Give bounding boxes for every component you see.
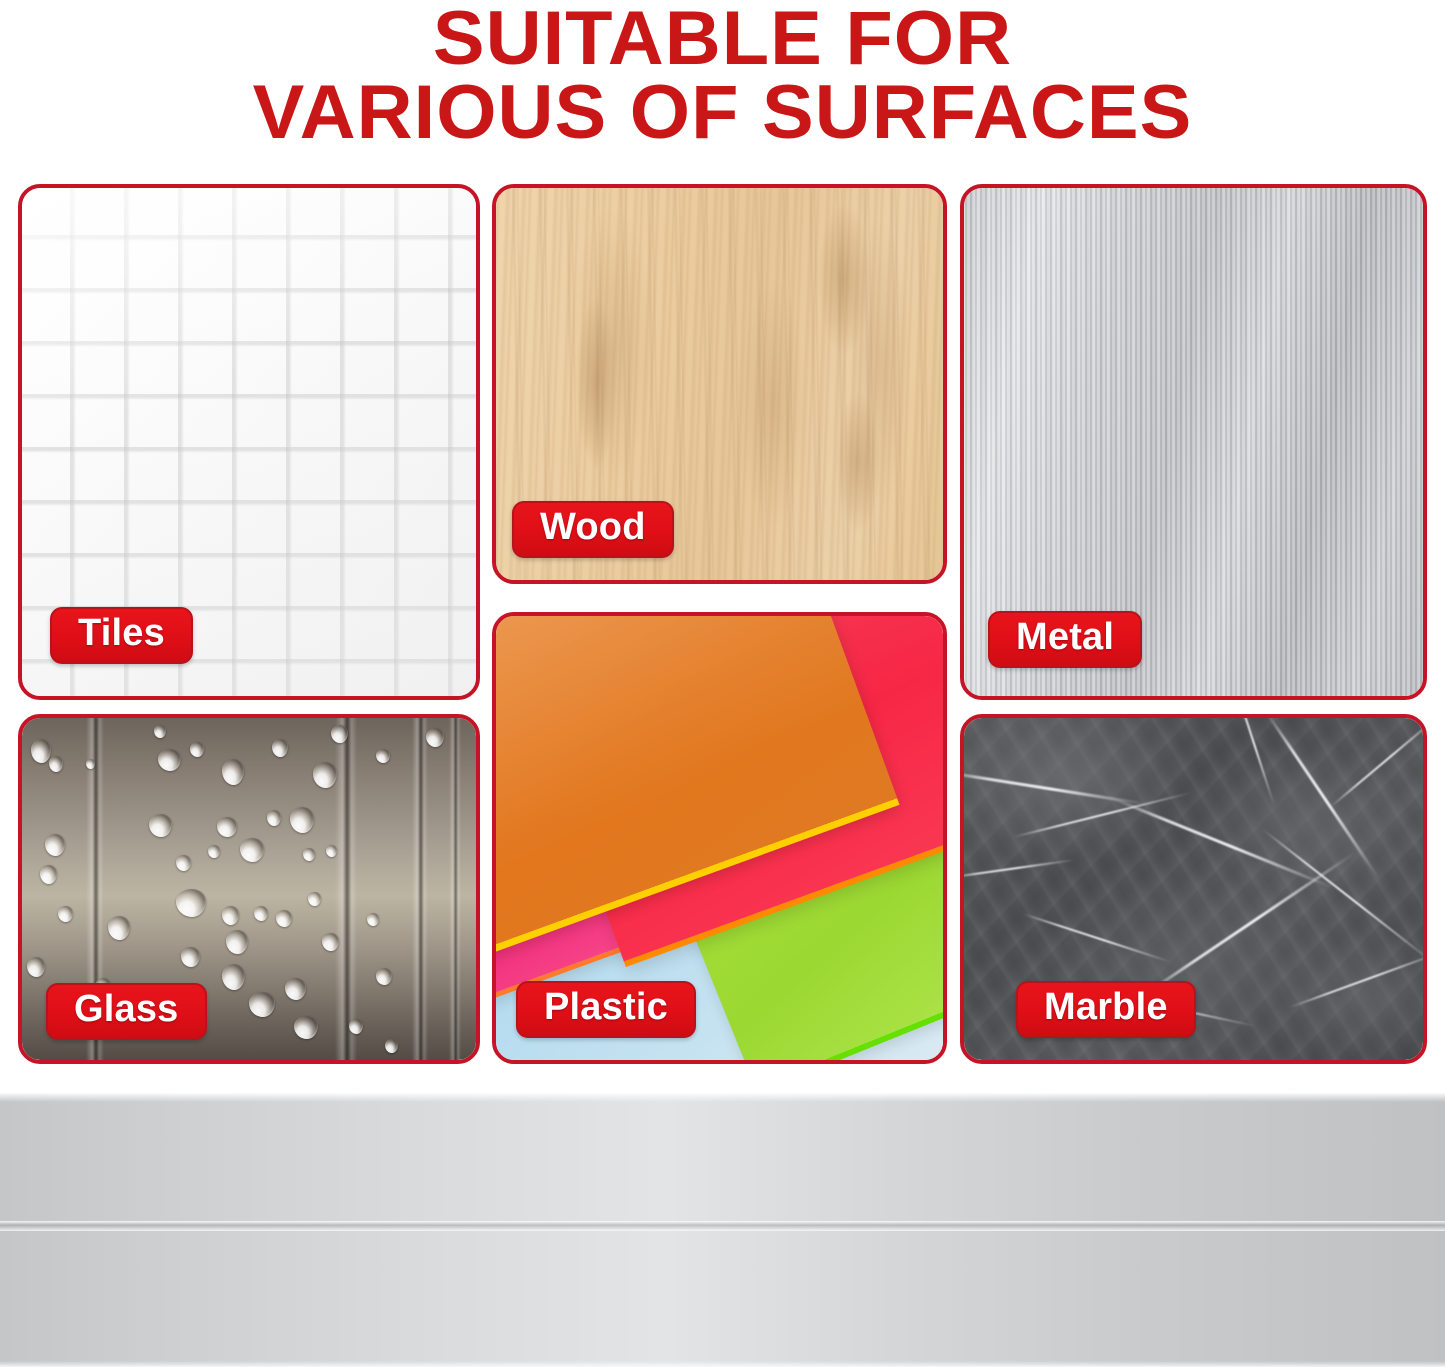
title-line-2: VARIOUS OF SURFACES (0, 76, 1445, 150)
surface-label-plastic: Plastic (516, 981, 696, 1038)
surface-card-wood: Wood (492, 184, 947, 584)
page-title: SUITABLE FOR VARIOUS OF SURFACES (0, 2, 1445, 151)
wood-knot-1 (818, 204, 870, 354)
infographic-root: SUITABLE FOR VARIOUS OF SURFACES Tiles W… (0, 0, 1445, 1367)
acrylic-sheet-orange (496, 616, 897, 947)
surface-label-wood: Wood (512, 501, 674, 558)
surface-label-tiles: Tiles (50, 607, 193, 664)
wood-knot-3 (576, 298, 616, 468)
surface-card-plastic: Plastic (492, 612, 947, 1064)
product-surface-strip (0, 1093, 1445, 1367)
surface-card-glass: Glass (18, 714, 480, 1064)
surface-label-marble: Marble (1016, 981, 1196, 1038)
strip-top-highlight (0, 1093, 1445, 1102)
glass-streak-2 (335, 718, 357, 1060)
acrylic-sheet-red (496, 616, 943, 961)
glass-streak-3 (412, 718, 428, 1060)
glass-streak-4 (449, 718, 461, 1060)
surface-card-metal: Metal (960, 184, 1427, 700)
surface-card-tiles: Tiles (18, 184, 480, 700)
surface-card-marble: Marble (960, 714, 1427, 1064)
title-line-1: SUITABLE FOR (0, 2, 1445, 76)
strip-bottom-highlight (0, 1361, 1445, 1367)
acrylic-sheet-pink (496, 713, 735, 1024)
wood-knot-2 (836, 392, 880, 532)
acrylic-sheet-green (658, 704, 943, 1060)
strip-groove (0, 1221, 1445, 1231)
surface-label-metal: Metal (988, 611, 1142, 668)
surface-label-glass: Glass (46, 983, 207, 1040)
